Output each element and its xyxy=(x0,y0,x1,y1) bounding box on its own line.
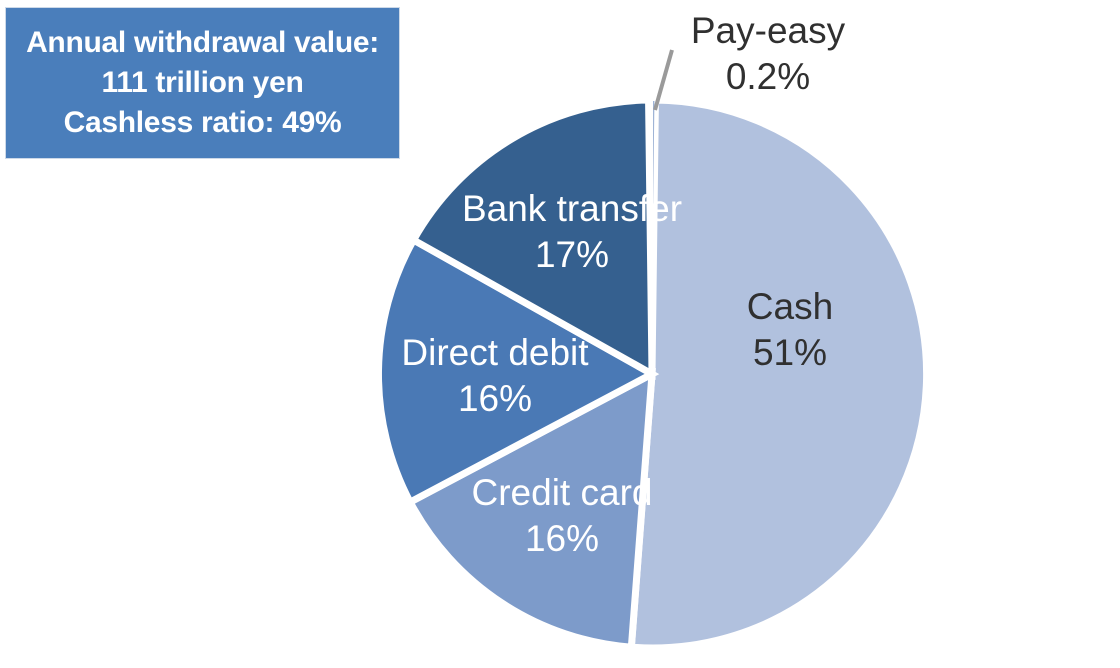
pie-slice-cash[interactable] xyxy=(631,100,926,648)
pie-chart xyxy=(0,0,1120,668)
chart-canvas: Annual withdrawal value: 111 trillion ye… xyxy=(0,0,1120,668)
